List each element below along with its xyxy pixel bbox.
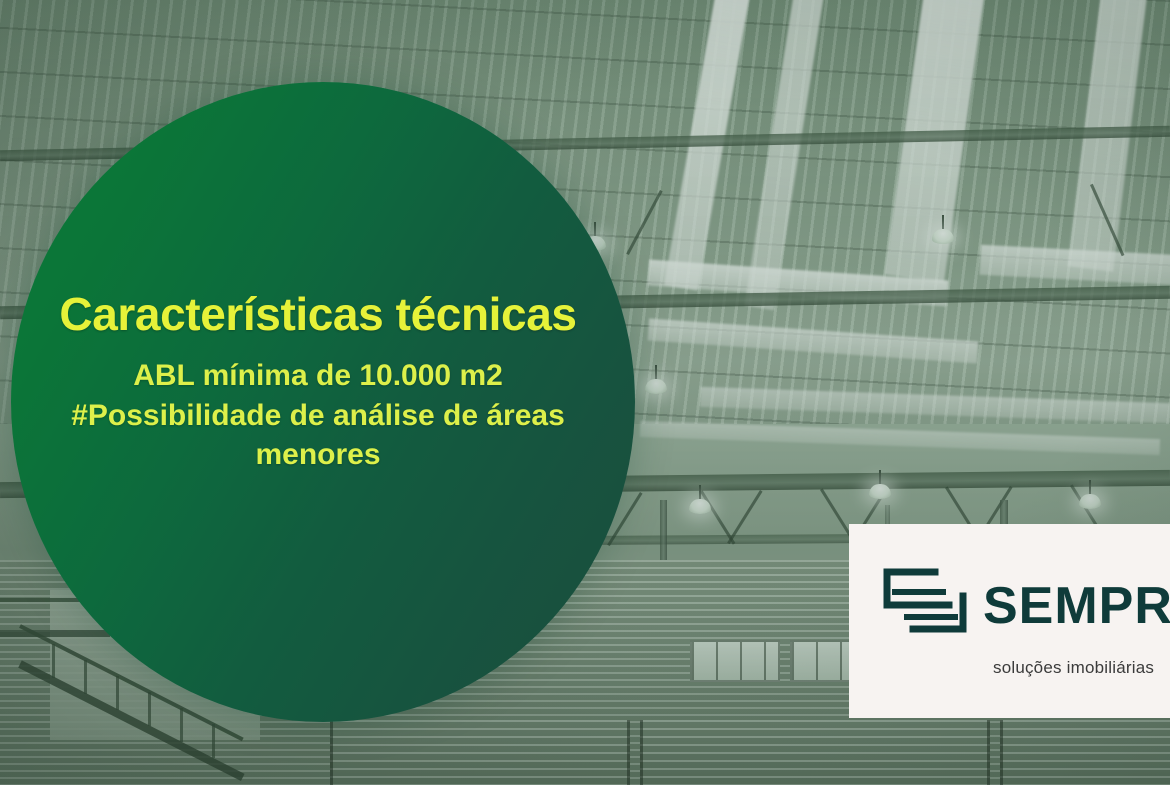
brand-tagline: soluções imobiliárias	[993, 658, 1170, 678]
sempre-s-mark-icon	[877, 565, 969, 648]
brand-logo-card: SEMPRE soluções imobiliárias	[849, 524, 1170, 718]
promo-slide: Características técnicas ABL mínima de 1…	[0, 0, 1170, 785]
brand-wordmark: SEMPRE	[983, 580, 1170, 632]
green-circle-callout	[11, 82, 635, 722]
